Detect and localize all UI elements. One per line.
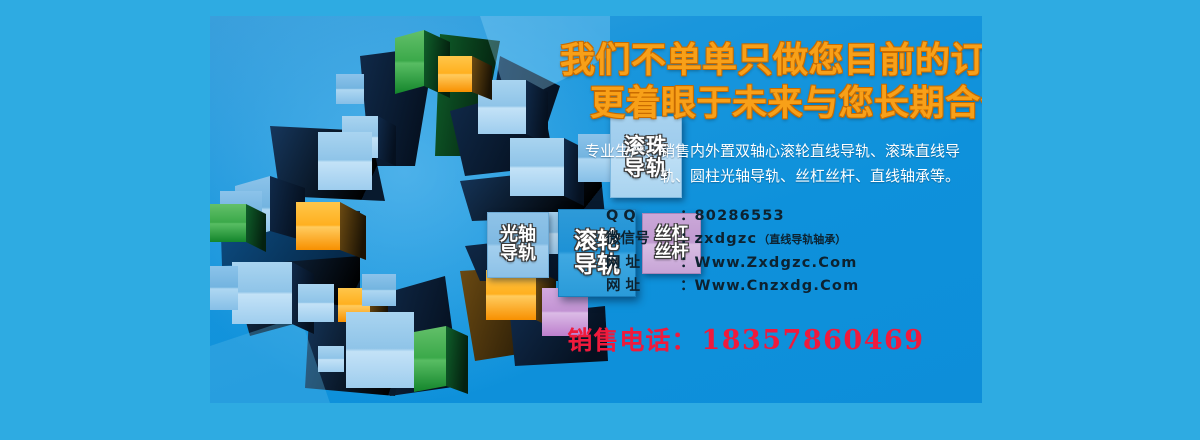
product-tile-guangzhou-daogui[interactable]: 光轴 导轨: [487, 212, 549, 278]
cube-blue-top-far: [336, 74, 364, 104]
sales-phone[interactable]: 销售电话： 18357860469: [512, 321, 980, 357]
cube-blue-left-bottom: [210, 266, 238, 310]
cube-blue-mid-center: [318, 346, 344, 372]
company-blurb: 专业生产、销售内外置双轴心滚轮直线导轨、滚珠直线导轨、圆柱光轴导轨、丝杠丝杆、直…: [560, 139, 960, 188]
cube-blue-center-left: [318, 132, 372, 190]
contact-value-website-2[interactable]: Www.Cnzxdg.Com: [695, 275, 860, 298]
tile-line-2: 导轨: [500, 245, 536, 264]
headline-line-2: 更着眼于未来与您长期合作: [590, 83, 980, 126]
contact-separator: ：: [680, 205, 695, 228]
contact-list: Q Q ： 80286553 微信号 ： zxdgzc （直线导轨轴承） 网 址…: [606, 205, 980, 299]
contact-separator: ：: [680, 252, 695, 275]
cube-blue-bottom-large: [346, 312, 414, 388]
sales-phone-label: 销售电话：: [567, 321, 697, 357]
contact-label: 网 址: [606, 252, 680, 275]
contact-separator: ：: [680, 275, 695, 298]
banner-stage: 滚珠 导轨 光轴 导轨 滚轮 导轨 丝杠 丝杆 我们不单单只做您目前的订单 更着…: [0, 0, 1200, 440]
cube-blue-bottom-right: [362, 274, 396, 306]
banner-panel: 滚珠 导轨 光轴 导轨 滚轮 导轨 丝杠 丝杆 我们不单单只做您目前的订单 更着…: [210, 16, 982, 403]
contact-label: 微信号: [606, 228, 680, 251]
contact-row-wechat: 微信号 ： zxdgzc （直线导轨轴承）: [606, 228, 980, 251]
contact-label: 网 址: [606, 275, 680, 298]
contact-value-wechat[interactable]: zxdgzc: [695, 228, 758, 251]
headline: 我们不单单只做您目前的订单 更着眼于未来与您长期合作: [560, 40, 980, 125]
cube-green-bottom: [414, 326, 468, 394]
cube-blue-bottom-small: [298, 284, 334, 322]
contact-row-qq: Q Q ： 80286553: [606, 205, 980, 228]
contact-value-qq[interactable]: 80286553: [695, 205, 785, 228]
headline-line-1: 我们不单单只做您目前的订单: [560, 40, 980, 83]
contact-row-website-2: 网 址 ： Www.Cnzxdg.Com: [606, 275, 980, 298]
contact-value-website-1[interactable]: Www.Zxdgzc.Com: [695, 252, 858, 275]
contact-label: Q Q: [606, 205, 680, 228]
contact-note-wechat: （直线导轨轴承）: [758, 231, 846, 249]
contact-row-website-1: 网 址 ： Www.Zxdgzc.Com: [606, 252, 980, 275]
sales-phone-number[interactable]: 18357860469: [701, 325, 924, 356]
contact-separator: ：: [680, 228, 695, 251]
banner-copy-column: 我们不单单只做您目前的订单 更着眼于未来与您长期合作 专业生产、销售内外置双轴心…: [560, 40, 980, 357]
